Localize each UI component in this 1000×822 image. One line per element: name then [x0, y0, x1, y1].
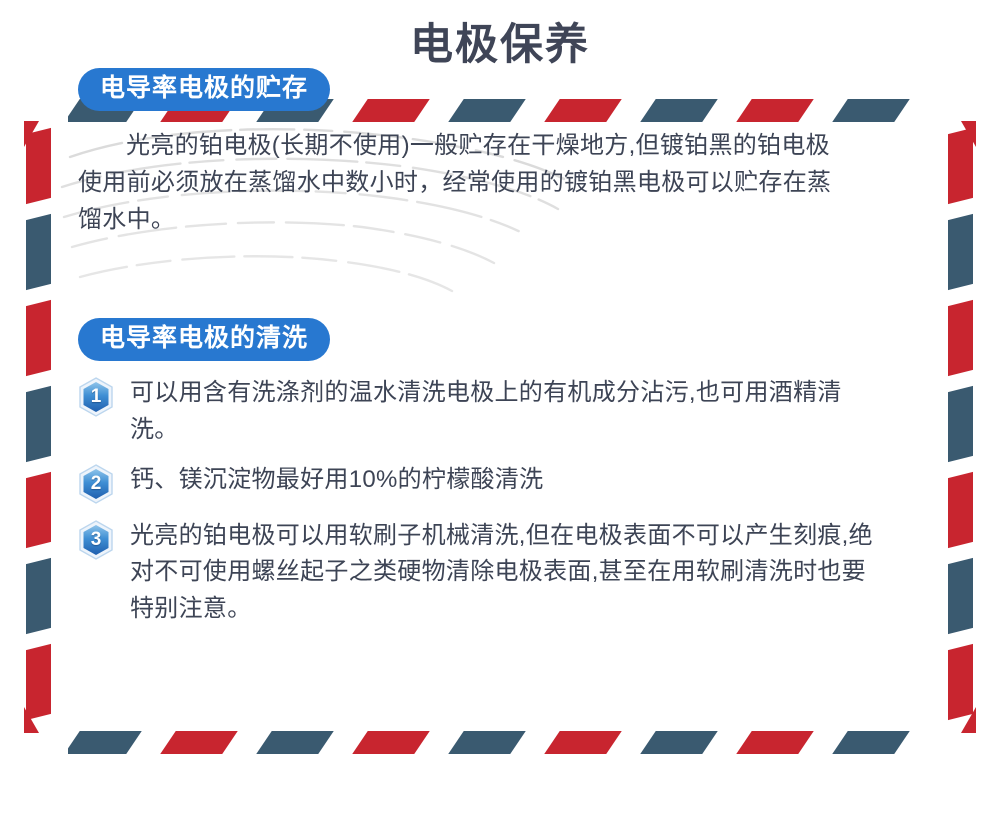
hexagon-number-icon: 3: [78, 520, 114, 560]
step-text: 可以用含有洗涤剂的温水清洗电极上的有机成分沾污,也可用酒精清洗。: [130, 375, 890, 448]
cleaning-steps-list: 1 可以用含有洗涤剂的温水清洗电极上的有机成分沾污,也可用酒精清洗。: [78, 375, 928, 627]
hexagon-number-icon: 2: [78, 464, 114, 504]
storage-paragraph: 光亮的铂电极(长期不使用)一般贮存在干燥地方,但镀铂黑的铂电极使用前必须放在蒸馏…: [78, 127, 848, 239]
section-electrode-storage: 电导率电极的贮存 光亮的铂电极(长期不使用)一般贮存在干燥地方,但镀铂黑的铂电极…: [78, 68, 928, 238]
content-area: 电导率电极的贮存 光亮的铂电极(长期不使用)一般贮存在干燥地方,但镀铂黑的铂电极…: [0, 0, 1000, 822]
list-item: 1 可以用含有洗涤剂的温水清洗电极上的有机成分沾污,也可用酒精清洗。: [78, 375, 928, 448]
hexagon-number-icon: 1: [78, 377, 114, 417]
section-electrode-cleaning: 电导率电极的清洗 1: [78, 318, 928, 627]
section-badge-storage: 电导率电极的贮存: [78, 68, 330, 111]
step-number: 2: [78, 464, 114, 504]
list-item: 3 光亮的铂电极可以用软刷子机械清洗,但在电极表面不可以产生刻痕,绝对不可使用螺…: [78, 518, 928, 627]
step-text: 钙、镁沉淀物最好用10%的柠檬酸清洗: [130, 462, 543, 498]
list-item: 2 钙、镁沉淀物最好用10%的柠檬酸清洗: [78, 462, 928, 504]
step-text: 光亮的铂电极可以用软刷子机械清洗,但在电极表面不可以产生刻痕,绝对不可使用螺丝起…: [130, 518, 890, 627]
step-number: 1: [78, 377, 114, 417]
step-number: 3: [78, 520, 114, 560]
section-badge-cleaning: 电导率电极的清洗: [78, 318, 330, 361]
